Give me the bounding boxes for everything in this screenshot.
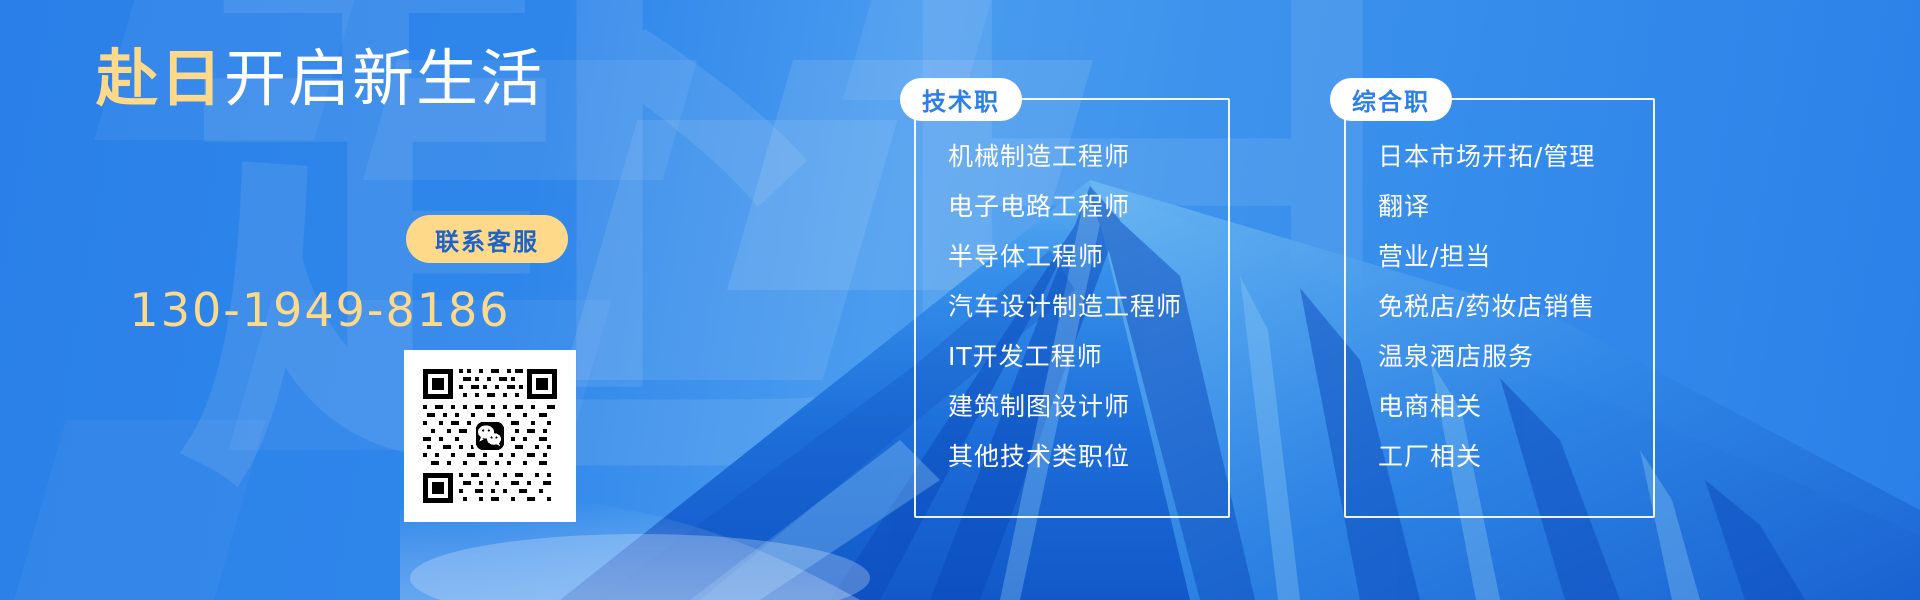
list-item[interactable]: 工厂相关 [1378, 444, 1647, 469]
list-item[interactable]: 汽车设计制造工程师 [948, 294, 1222, 344]
job-list-general: 日本市场开拓/管理 翻译 营业/担当 免税店/药妆店销售 温泉酒店服务 电商相关… [1378, 144, 1647, 469]
list-item[interactable]: 电子电路工程师 [948, 194, 1222, 244]
list-item[interactable]: IT开发工程师 [948, 344, 1222, 394]
headline-highlight: 赴日 [96, 42, 224, 115]
job-badge-technical[interactable]: 技术职 [900, 78, 1022, 121]
list-item[interactable]: 建筑制图设计师 [948, 394, 1222, 444]
phone-number[interactable]: 130-1949-8186 [0, 283, 640, 337]
left-content: 赴日开启新生活 联系客服 130-1949-8186 [0, 0, 780, 600]
promo-banner: 赴日 [0, 0, 1920, 600]
headline-rest: 开启新生活 [224, 42, 544, 115]
list-item[interactable]: 电商相关 [1378, 394, 1647, 444]
list-item[interactable]: 日本市场开拓/管理 [1378, 144, 1647, 194]
contact-support-button[interactable]: 联系客服 [406, 215, 568, 263]
page-title: 赴日开启新生活 [0, 48, 640, 110]
list-item[interactable]: 营业/担当 [1378, 244, 1647, 294]
list-item[interactable]: 翻译 [1378, 194, 1647, 244]
list-item[interactable]: 机械制造工程师 [948, 144, 1222, 194]
wechat-qr-code[interactable] [404, 350, 576, 522]
job-badge-general[interactable]: 综合职 [1330, 78, 1452, 121]
job-list-technical: 机械制造工程师 电子电路工程师 半导体工程师 汽车设计制造工程师 IT开发工程师… [948, 144, 1222, 469]
list-item[interactable]: 免税店/药妆店销售 [1378, 294, 1647, 344]
list-item[interactable]: 其他技术类职位 [948, 444, 1222, 469]
wechat-logo-icon [473, 419, 507, 453]
list-item[interactable]: 半导体工程师 [948, 244, 1222, 294]
list-item[interactable]: 温泉酒店服务 [1378, 344, 1647, 394]
